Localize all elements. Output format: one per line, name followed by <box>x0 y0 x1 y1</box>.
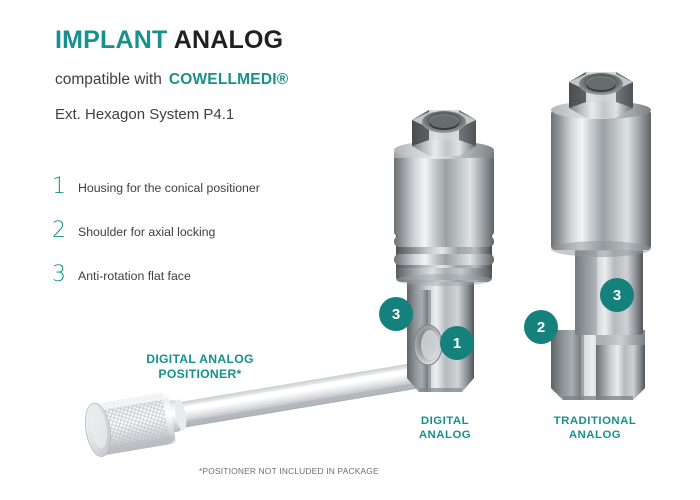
product-illustration-group <box>0 0 700 500</box>
badge-traditional-3: 3 <box>600 278 634 312</box>
badge-digital-3: 3 <box>379 297 413 331</box>
digital-analog-positioner-art <box>82 348 432 458</box>
badge-traditional-2: 2 <box>524 310 558 344</box>
badge-digital-1: 1 <box>440 326 474 360</box>
traditional-analog-art <box>551 72 651 400</box>
